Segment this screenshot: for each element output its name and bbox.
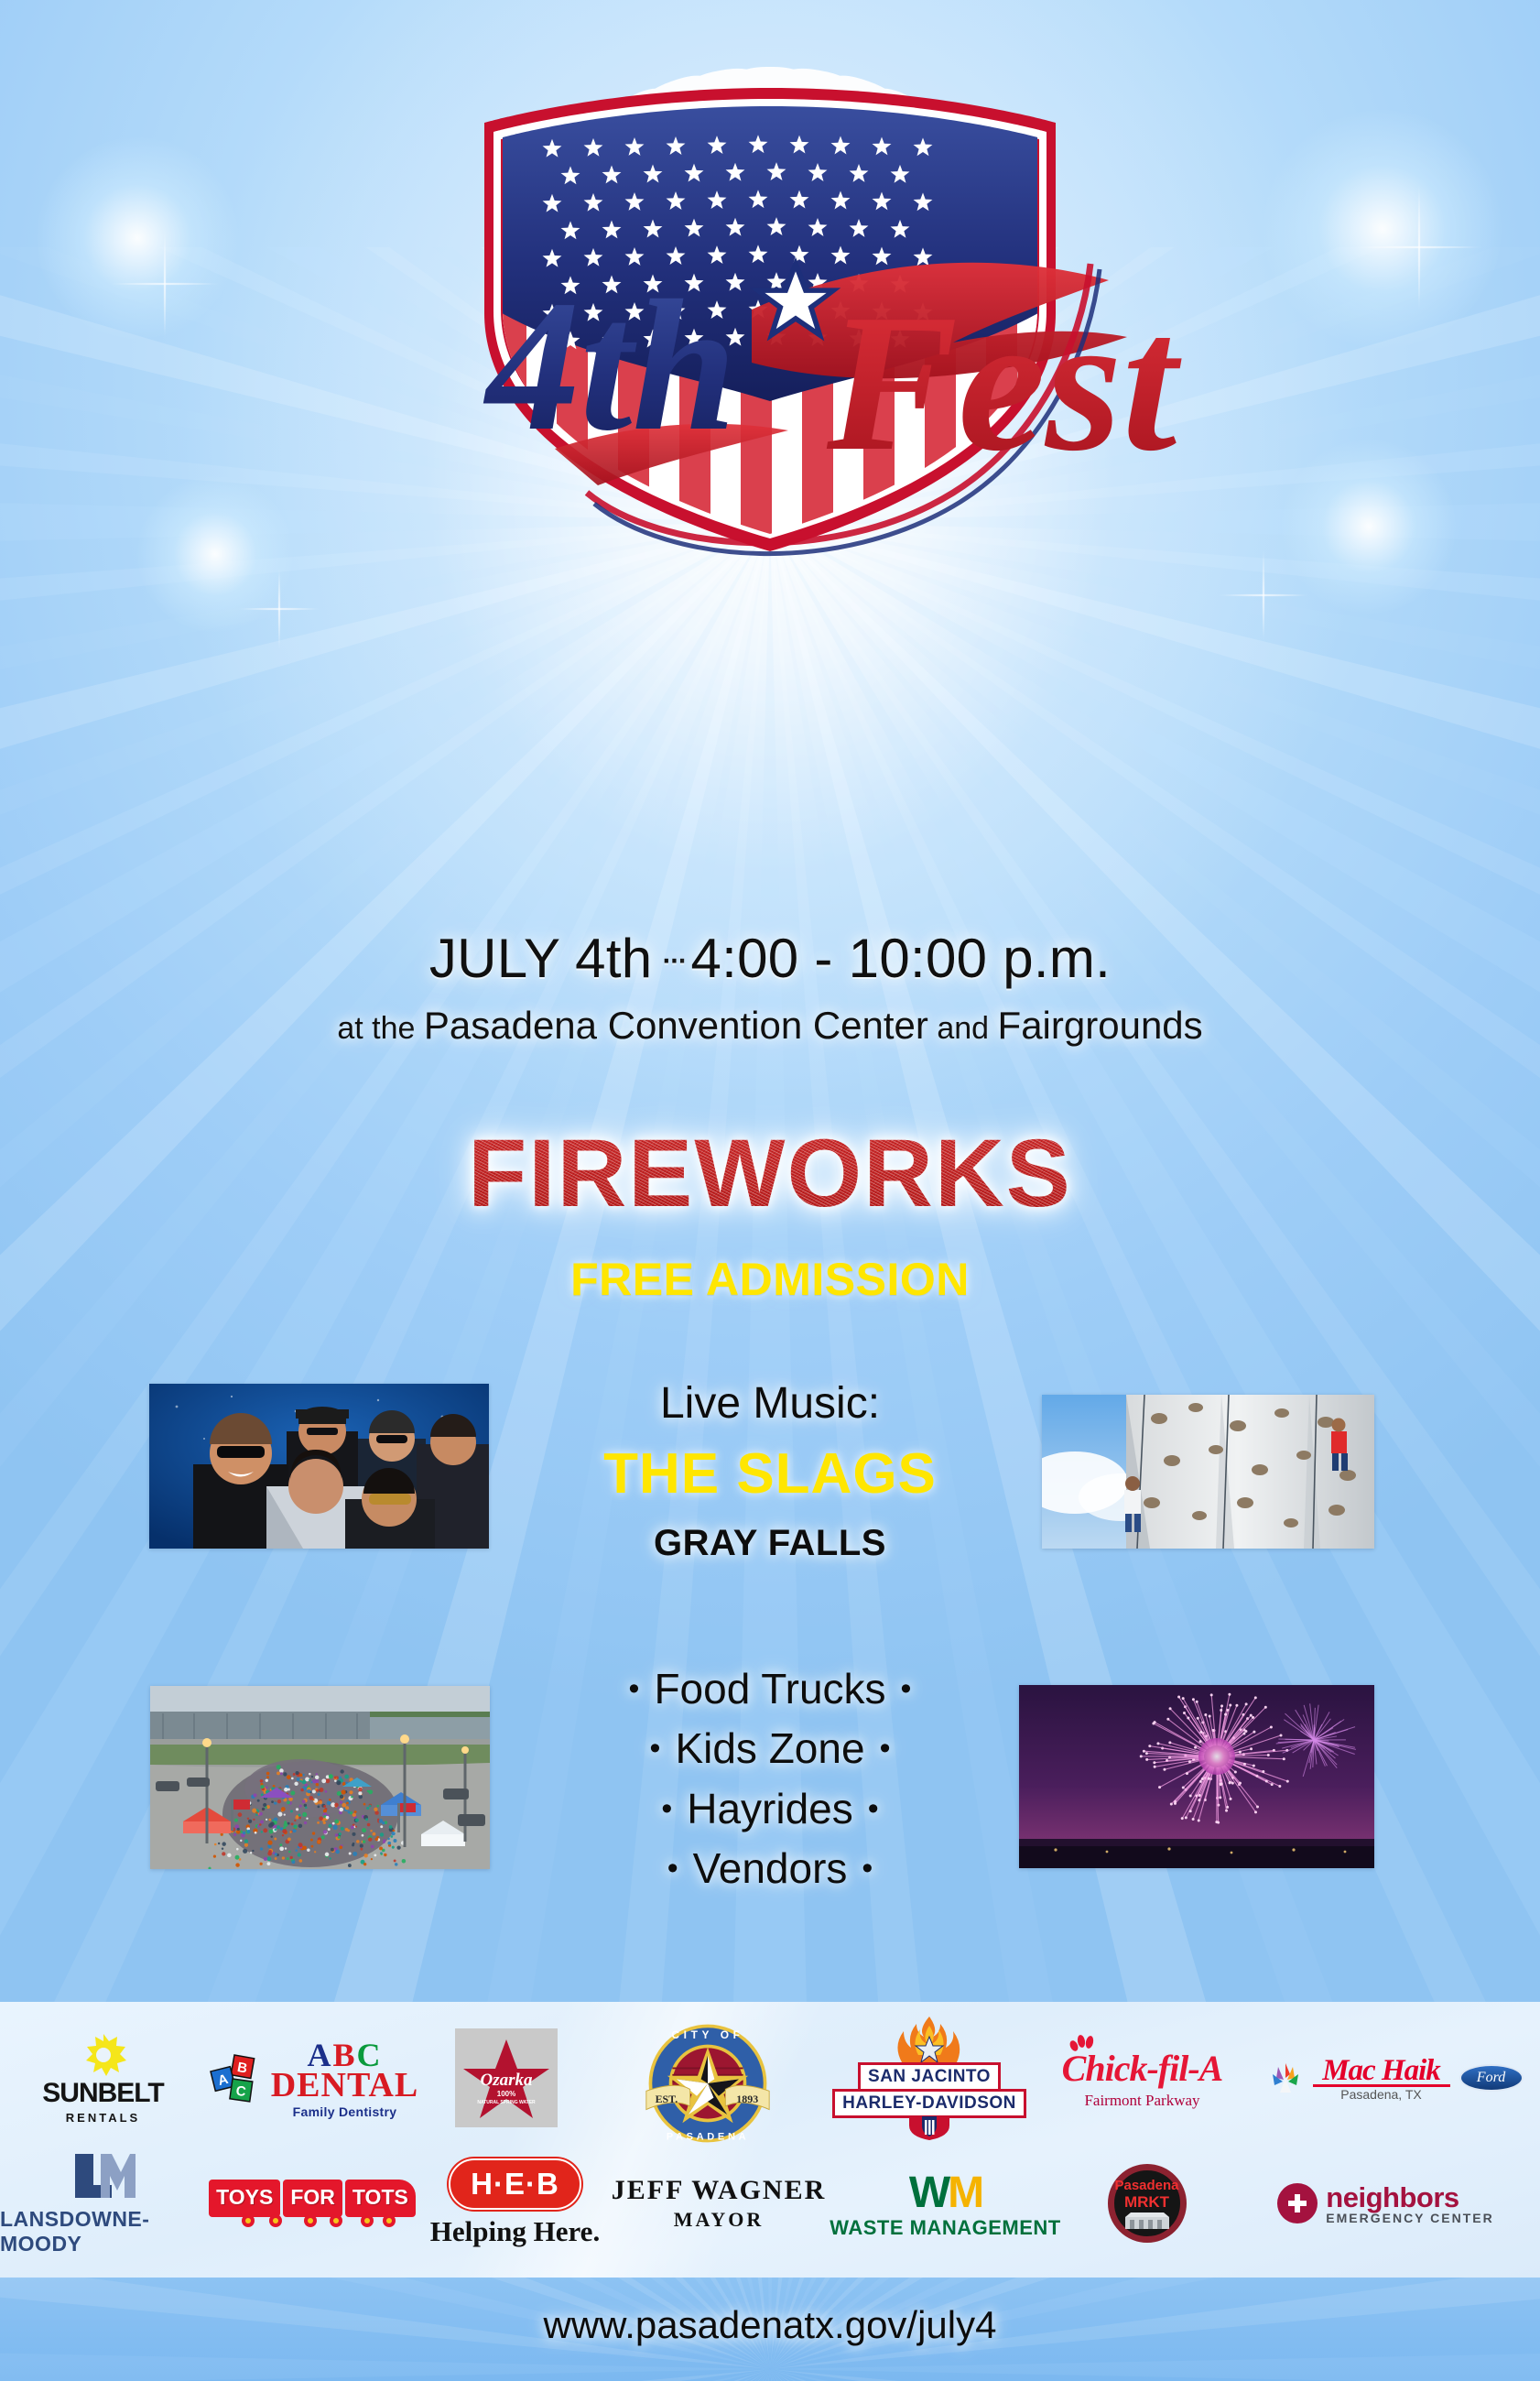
sponsor-jeff-wagner-mayor[interactable]: JEFF WAGNER MAYOR [609,2139,829,2267]
tft-word-2: FOR [283,2180,342,2217]
sponsor-abc-dental[interactable]: B A C ABC [206,2009,421,2147]
ford-logo: Ford [1459,2064,1524,2092]
mrkt-line1: Pasadena [1114,2178,1178,2193]
sponsor-ozarka[interactable]: Ozarka 100% NATURAL SPRING WATER [421,2009,591,2147]
attraction-item: •Hayrides• [514,1779,1026,1839]
bullet-icon: • [614,1671,655,1706]
event-venue: at the Pasadena Convention Center and Fa… [0,1004,1540,1048]
abc-blocks-icon: B A C [209,2051,266,2104]
sponsor-heb[interactable]: H·E·B Helping Here. [421,2139,609,2267]
sponsor-row-2: LANSDOWNE-MOODY TOYS FOR TOTS [0,2139,1540,2267]
fourth-fest-logo: 4th Fest [358,35,1182,584]
mac-haik-leaf-icon [1267,2060,1304,2096]
sparkle-icon [1355,183,1483,311]
bullet-icon: • [886,1671,927,1706]
glow-dot [137,476,293,632]
tft-wheels-icon [232,2213,396,2228]
free-admission-text: FREE ADMISSION [0,1253,1540,1306]
festival-crowd-photo [150,1686,490,1869]
mrkt-building-icon [1122,2212,1173,2230]
sponsor-waste-management[interactable]: WM WASTE MANAGEMENT [829,2139,1062,2267]
poster-canvas: 4th Fest JULY 4th···4:00 - 10:00 p.m. at… [0,0,1540,2381]
tft-word-1: TOYS [209,2180,280,2217]
neighbors-name: neighbors [1326,2183,1459,2212]
chickfila-comb-icon [1068,2034,1099,2052]
bullet-icon: • [653,1851,693,1886]
attraction-label: Hayrides [687,1785,853,1832]
chickfila-location: Fairmont Parkway [1084,2092,1199,2110]
rock-climbing-photo [1042,1395,1374,1549]
city-seal-icon: CITY OF PASADENA EST. 1893 [639,2020,776,2147]
ozarka-star-icon: Ozarka 100% NATURAL SPRING WATER [462,2034,550,2122]
mrkt-line2: MRKT [1124,2193,1169,2212]
attractions-list: •Food Trucks• •Kids Zone• •Hayrides• •Ve… [514,1659,1026,1898]
sponsor-chick-fil-a[interactable]: Chick-fil-A Fairmont Parkway [1035,2009,1250,2147]
mayor-title: MAYOR [674,2208,765,2232]
sponsor-lansdowne-moody[interactable]: LANSDOWNE-MOODY [0,2139,206,2267]
sunbelt-sun-icon [78,2032,129,2078]
sponsor-band: SUNBELT RENTALS B A [0,2002,1540,2278]
pasadena-mrkt-badge: Pasadena MRKT [1108,2164,1187,2243]
medical-cross-icon [1277,2183,1318,2223]
glow-dot [1282,440,1456,614]
glow-dot [37,137,238,339]
svg-text:CITY OF: CITY OF [671,2028,743,2041]
bullet-icon: • [853,1791,894,1826]
mac-haik-location: Pasadena, TX [1340,2088,1421,2101]
mac-haik-name: Mac Haik [1322,2056,1440,2086]
fireworks-photo [1019,1685,1374,1868]
lansdowne-moody-monogram-icon [70,2150,137,2202]
event-date-time: JULY 4th···4:00 - 10:00 p.m. [0,927,1540,990]
attraction-label: Kids Zone [675,1724,864,1772]
headliner-band-name: THE SLAGS [514,1441,1026,1506]
sparkle-icon [1218,549,1309,641]
attraction-item: •Kids Zone• [514,1719,1026,1778]
bullet-icon: • [847,1851,887,1886]
sparkle-icon [238,568,320,650]
lansdowne-moody-name: LANSDOWNE-MOODY [0,2207,206,2256]
footer-bar: www.pasadenatx.gov/july4 [0,2278,1540,2381]
attraction-item: •Food Trucks• [514,1659,1026,1719]
event-date: JULY 4th [429,928,653,989]
glow-dot [1263,110,1502,348]
tft-word-3: TOTS [345,2180,416,2217]
date-separator: ··· [652,936,690,981]
venue-prefix: at the [337,1011,415,1046]
harley-flame-icon [874,2017,984,2062]
sponsor-neighbors-emergency-center[interactable]: neighbors EMERGENCY CENTER [1231,2139,1540,2267]
harley-line2: HARLEY-DAVIDSON [832,2089,1026,2118]
sponsor-row-1: SUNBELT RENTALS B A [0,2009,1540,2147]
venue-join: and [937,1011,989,1046]
mayor-name: JEFF WAGNER [612,2175,827,2206]
abc-tagline: Family Dentistry [293,2105,397,2118]
bullet-icon: • [646,1791,687,1826]
attraction-label: Food Trucks [654,1665,885,1712]
venue-suffix: Fairgrounds [998,1004,1203,1047]
sponsor-toys-for-tots[interactable]: TOYS FOR TOTS [206,2139,421,2267]
sponsor-pasadena-mrkt[interactable]: Pasadena MRKT [1062,2139,1231,2267]
fireworks-headline: FIREWORKS [0,1119,1540,1229]
heb-tagline: Helping Here. [430,2215,600,2248]
harley-line1: SAN JACINTO [858,2062,1001,2092]
venue-main: Pasadena Convention Center [424,1004,928,1047]
seal-year: 1893 [736,2093,758,2105]
logo-4th-text: 4th [483,262,736,470]
sponsor-city-of-pasadena[interactable]: CITY OF PASADENA EST. 1893 [591,2009,824,2147]
sponsor-san-jacinto-harley[interactable]: SAN JACINTO HARLEY-DAVIDSON [824,2009,1035,2147]
chickfila-name: Chick-fil-A [1062,2047,1223,2090]
neighbors-sub: EMERGENCY CENTER [1326,2212,1493,2224]
harley-shield-icon [906,2116,953,2140]
event-time: 4:00 - 10:00 p.m. [690,928,1111,989]
sponsor-sunbelt-rentals[interactable]: SUNBELT RENTALS [0,2009,206,2147]
attraction-label: Vendors [693,1844,848,1892]
logo-fest-text: Fest [826,273,1182,492]
live-music-label: Live Music: [514,1378,1026,1429]
seal-est: EST. [655,2093,678,2105]
abc-dental-word: DENTAL [271,2068,419,2103]
wm-name: WASTE MANAGEMENT [830,2216,1060,2240]
toys-for-tots-train-icon: TOYS FOR TOTS [209,2180,418,2217]
supporting-band-name: GRAY FALLS [514,1523,1026,1564]
ozarka-sub: NATURAL SPRING WATER [477,2100,536,2105]
sunbelt-sub: RENTALS [66,2111,140,2125]
sparkle-icon [110,229,220,339]
event-website-url[interactable]: www.pasadenatx.gov/july4 [0,2303,1540,2347]
band-photo [149,1384,489,1549]
bullet-icon: • [635,1731,676,1766]
ozarka-pct: 100% [496,2090,515,2098]
wm-monogram: WM [909,2168,981,2218]
sponsor-mac-haik-ford[interactable]: Mac Haik Pasadena, TX Ford [1250,2009,1540,2147]
bullet-icon: • [865,1731,906,1766]
sunbelt-name: SUNBELT [42,2078,163,2109]
ozarka-tile: Ozarka 100% NATURAL SPRING WATER [455,2028,558,2127]
attraction-item: •Vendors• [514,1839,1026,1898]
heb-logo: H·E·B [449,2158,581,2210]
ozarka-name: Ozarka [480,2071,533,2090]
live-music-block: Live Music: THE SLAGS GRAY FALLS [514,1378,1026,1564]
